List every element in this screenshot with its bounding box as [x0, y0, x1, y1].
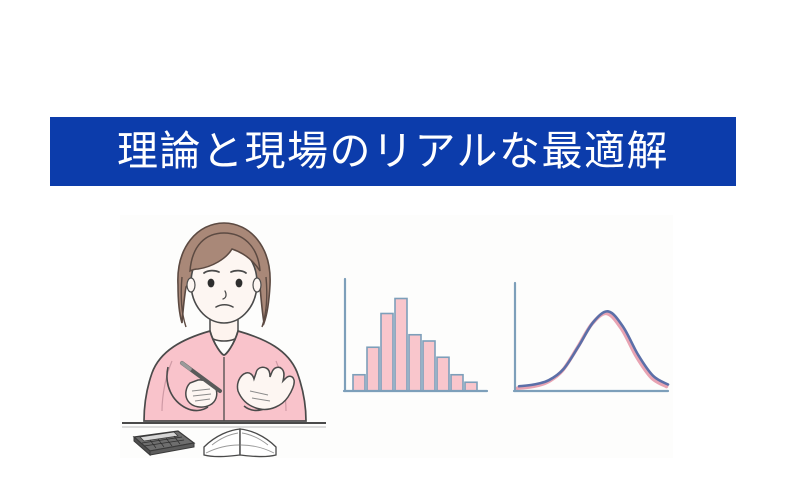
bar-5 [409, 335, 421, 391]
page-title: 理論と現場のリアルな最適解 [117, 131, 669, 172]
bell-curve-line [519, 311, 668, 386]
eye-right [236, 279, 243, 288]
bar-7 [437, 357, 449, 391]
bar-3 [381, 314, 393, 392]
bar-6 [423, 341, 435, 391]
calculator-icon [134, 431, 194, 455]
bar-1 [353, 375, 365, 391]
ear-right [253, 278, 261, 292]
illustration-panel [120, 215, 673, 458]
bar-4 [395, 299, 407, 392]
ear-left [187, 278, 195, 292]
eye-left [208, 279, 215, 288]
bar-9 [465, 382, 477, 391]
slide-canvas: 理論と現場のリアルな最適解 [0, 0, 786, 499]
bar-8 [451, 375, 463, 391]
open-notebook-icon [204, 429, 276, 457]
title-banner: 理論と現場のリアルな最適解 [50, 117, 736, 186]
businesswoman-illustration [120, 215, 328, 458]
histogram-bars [353, 299, 477, 392]
bell-curve-chart [505, 275, 670, 400]
histogram-chart [335, 275, 490, 400]
bar-2 [367, 347, 379, 391]
